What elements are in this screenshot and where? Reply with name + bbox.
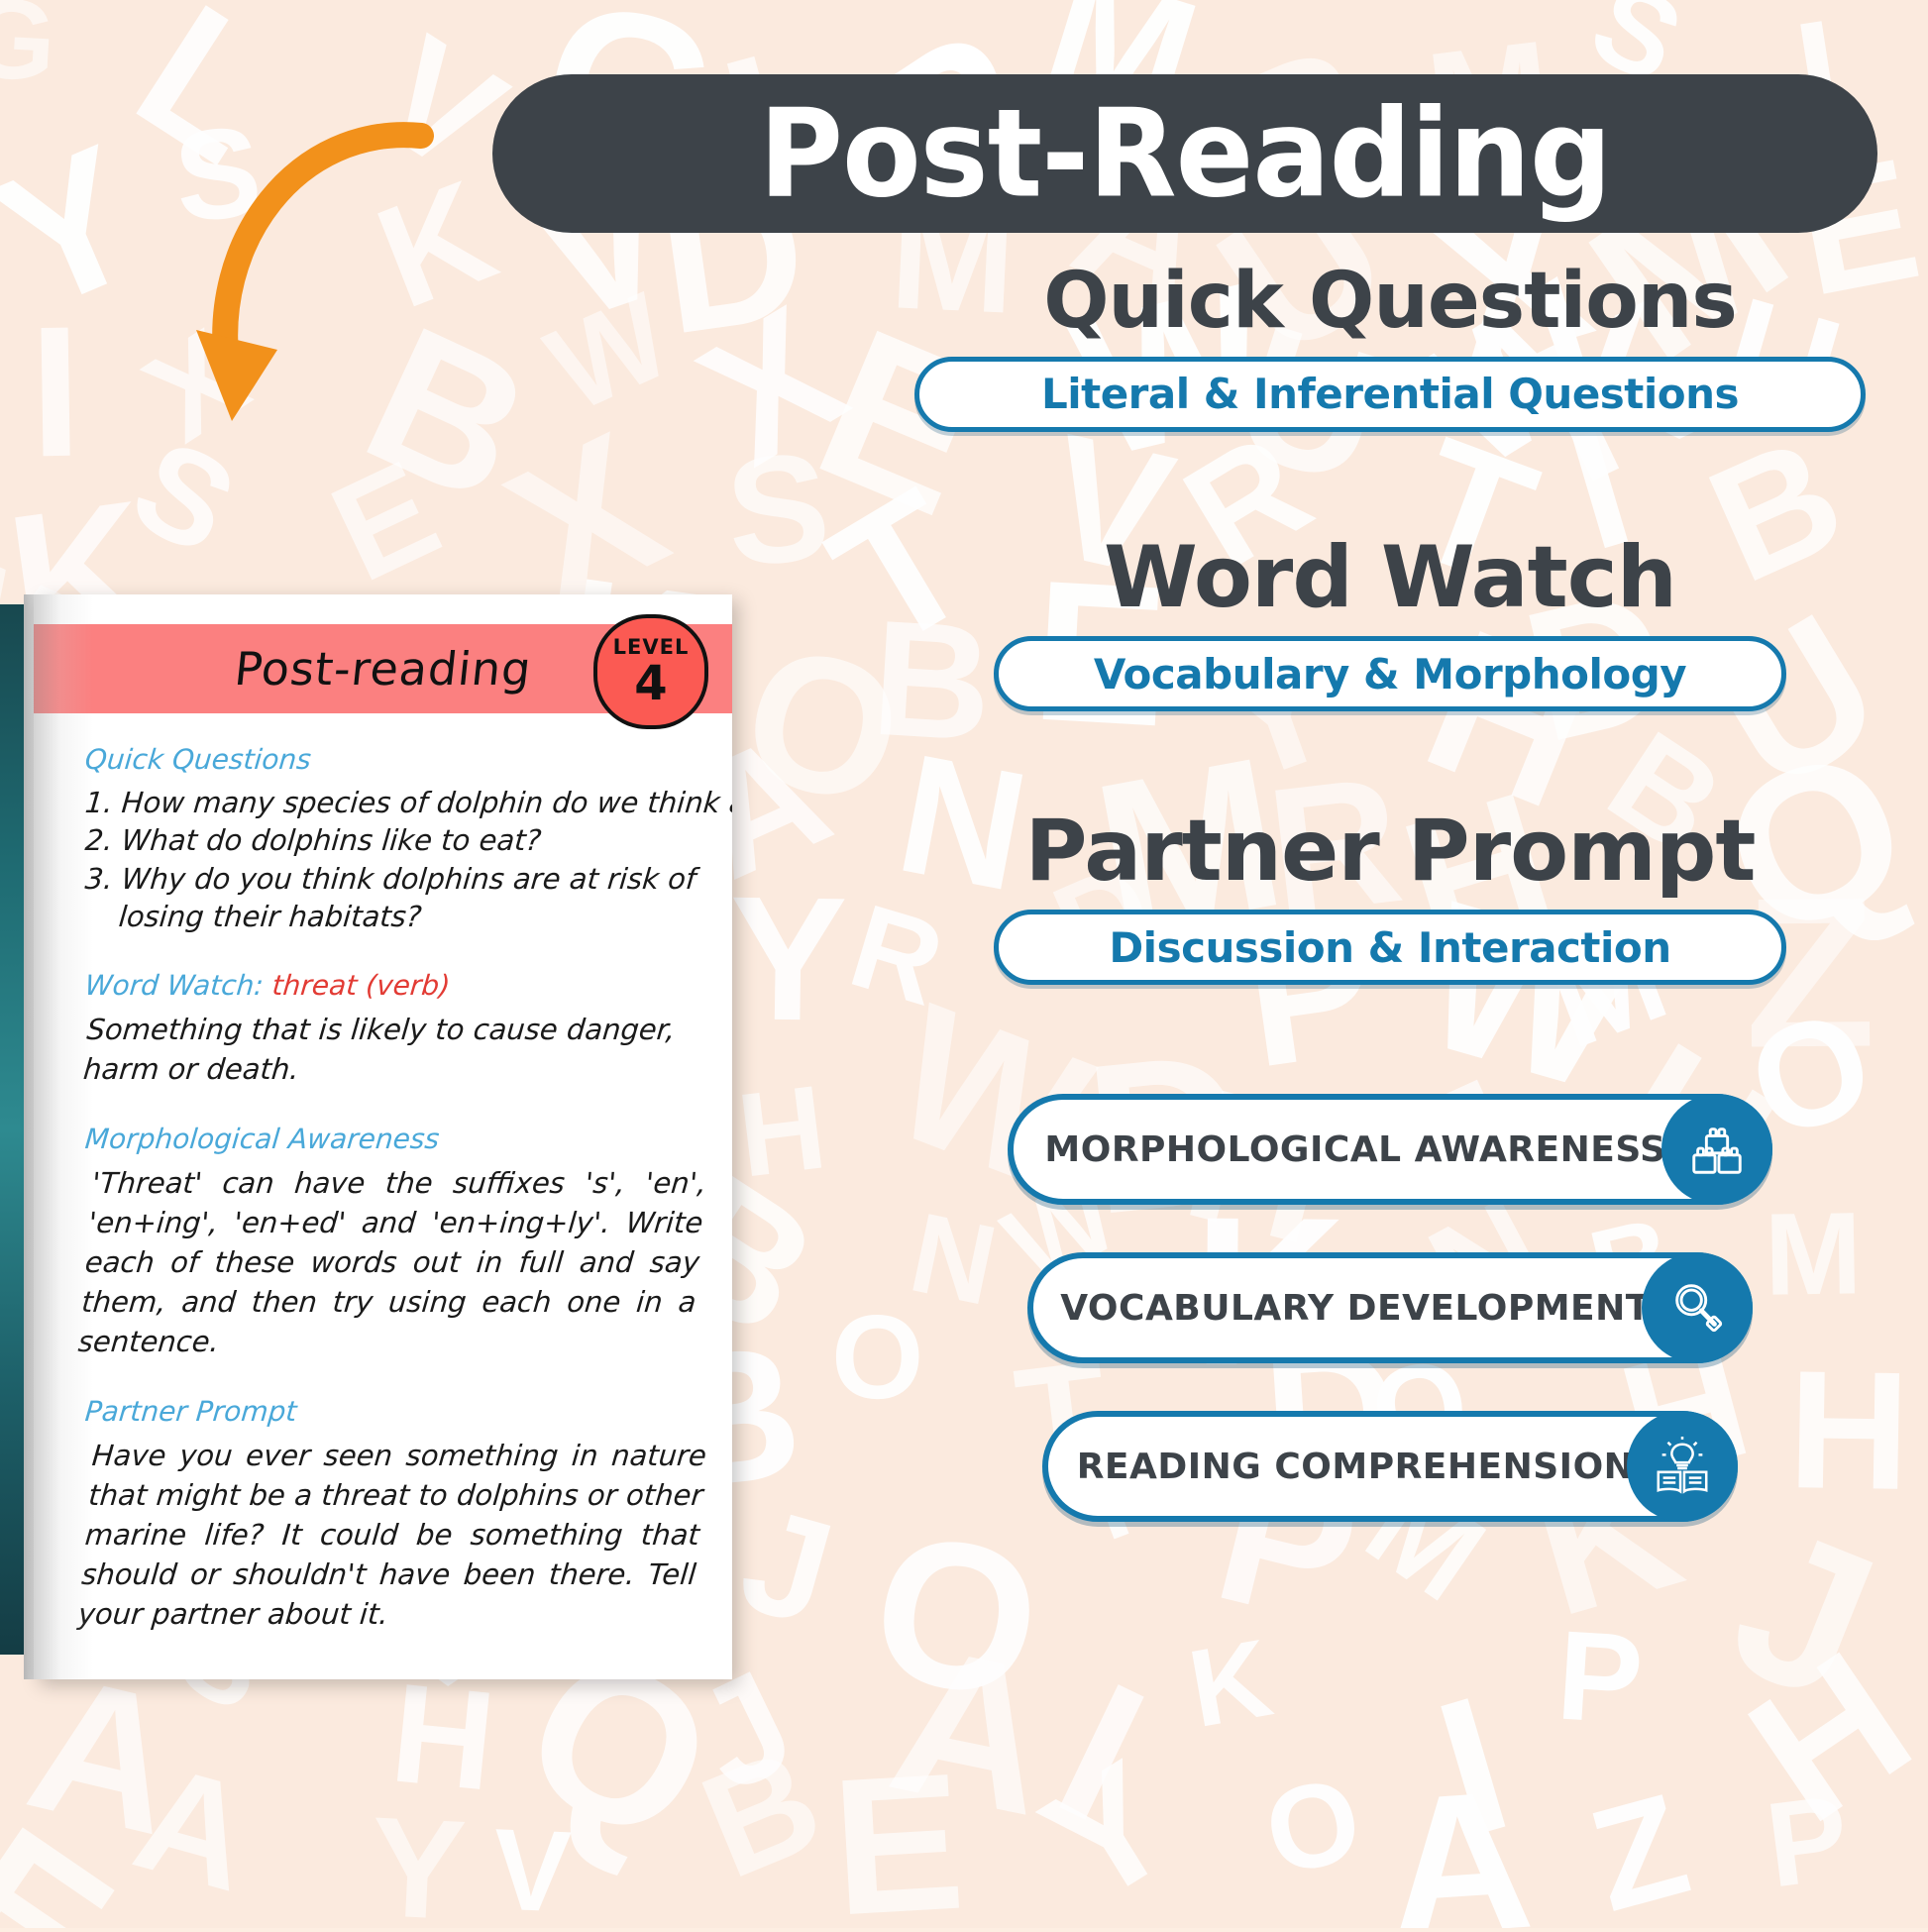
ws-word-watch-word: threat (verb) <box>270 969 451 1002</box>
feature-button-label: MORPHOLOGICAL AWARENESS <box>1014 1129 1767 1170</box>
building-blocks-icon <box>1661 1094 1772 1205</box>
ws-question-2: 2. What do dolphins like to eat? <box>83 821 700 859</box>
section-quick-questions: Quick Questions Literal & Inferential Qu… <box>852 262 1928 432</box>
section-heading-quick-questions: Quick Questions <box>852 262 1928 343</box>
section-heading-word-watch: Word Watch <box>852 533 1928 622</box>
ws-label-partner-prompt: Partner Prompt <box>84 1395 701 1428</box>
section-heading-partner-prompt: Partner Prompt <box>852 806 1928 896</box>
worksheet-page-shading <box>34 594 93 1679</box>
section-pill-label: Literal & Inferential Questions <box>1041 370 1739 418</box>
section-partner-prompt: Partner Prompt Discussion & Interaction <box>852 806 1928 985</box>
right-column: Quick Questions Literal & Inferential Qu… <box>852 248 1928 1932</box>
worksheet-preview: Post-reading LEVEL 4 Quick Questions 1. … <box>0 594 747 1704</box>
section-pill-label: Discussion & Interaction <box>1109 923 1670 972</box>
ws-question-3-cont: losing their habitats? <box>83 898 700 935</box>
feature-button-vocabulary-development[interactable]: VOCABULARY DEVELOPMENT <box>1027 1252 1753 1363</box>
section-pill-quick-questions[interactable]: Literal & Inferential Questions <box>914 357 1866 432</box>
curved-down-arrow-icon <box>188 94 485 461</box>
ws-question-3: 3. Why do you think dolphins are at risk… <box>83 860 700 898</box>
magnifier-icon <box>1642 1252 1753 1363</box>
page-title: Post-Reading <box>759 82 1611 224</box>
background-letter: V <box>490 1811 573 1928</box>
worksheet-page: Post-reading LEVEL 4 Quick Questions 1. … <box>34 594 732 1679</box>
worksheet-title: Post-reading <box>232 642 534 696</box>
ws-question-1: 1. How many species of dolphin do we thi… <box>83 784 700 821</box>
feature-button-morphological-awareness[interactable]: MORPHOLOGICAL AWARENESS <box>1008 1094 1772 1205</box>
section-pill-partner-prompt[interactable]: Discussion & Interaction <box>994 910 1786 985</box>
level-badge-number: 4 <box>634 660 667 707</box>
section-word-watch: Word Watch Vocabulary & Morphology <box>852 533 1928 711</box>
ws-label-word-watch: Word Watch: threat (verb) <box>84 969 701 1002</box>
page-title-pill: Post-Reading <box>492 74 1877 233</box>
level-badge: LEVEL 4 <box>593 614 708 729</box>
feature-button-list: MORPHOLOGICAL AWARENESS VOCABULARY DEVEL… <box>852 1094 1928 1522</box>
ws-label-quick-questions: Quick Questions <box>84 743 701 776</box>
open-book-lightbulb-icon <box>1627 1411 1738 1522</box>
background-letter: B <box>685 1725 839 1902</box>
section-pill-label: Vocabulary & Morphology <box>1094 650 1686 698</box>
section-pill-word-watch[interactable]: Vocabulary & Morphology <box>994 636 1786 711</box>
ws-morphological-awareness-body: 'Threat' can have the suffixes 's', 'en'… <box>76 1163 708 1361</box>
background-letter: G <box>0 0 59 99</box>
level-badge-word: LEVEL <box>613 637 690 658</box>
background-letter: I <box>29 299 83 486</box>
ws-label-morphological-awareness: Morphological Awareness <box>84 1123 701 1155</box>
background-letter: Y <box>367 1797 468 1928</box>
ws-label-word-watch-text: Word Watch: <box>84 969 274 1002</box>
worksheet-body: Quick Questions 1. How many species of d… <box>85 743 699 1634</box>
feature-button-reading-comprehension[interactable]: READING COMPREHENSION <box>1042 1411 1738 1522</box>
feature-button-label: VOCABULARY DEVELOPMENT <box>1033 1288 1747 1329</box>
ws-word-watch-definition: Something that is likely to cause danger… <box>81 1010 702 1089</box>
ws-partner-prompt-body: Have you ever seen something in nature t… <box>76 1436 708 1634</box>
